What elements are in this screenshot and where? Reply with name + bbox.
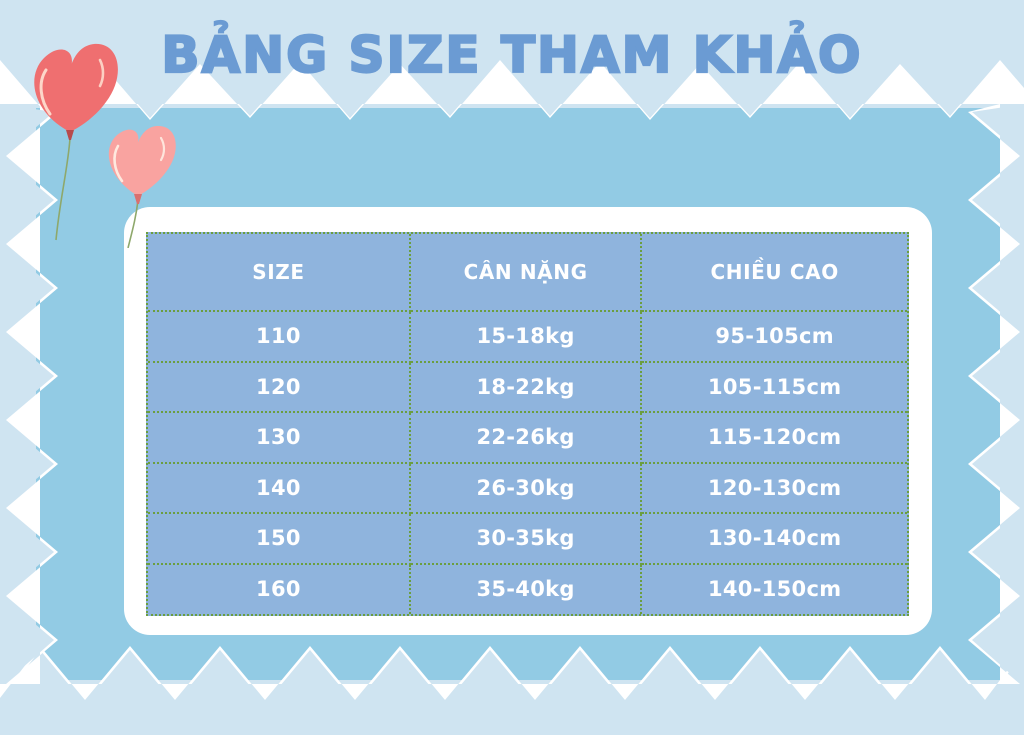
cell-height: 130-140cm — [641, 513, 907, 564]
size-table-container: SIZE CÂN NẶNG CHIỀU CAO 110 15-18kg 95-1… — [146, 232, 909, 616]
cell-size: 150 — [148, 513, 410, 564]
table-row: 140 26-30kg 120-130cm — [148, 463, 907, 514]
table-row: 110 15-18kg 95-105cm — [148, 311, 907, 362]
column-header-size: SIZE — [148, 234, 410, 311]
cell-weight: 15-18kg — [410, 311, 641, 362]
table-row: 150 30-35kg 130-140cm — [148, 513, 907, 564]
cell-weight: 22-26kg — [410, 412, 641, 463]
cell-size: 130 — [148, 412, 410, 463]
size-table: SIZE CÂN NẶNG CHIỀU CAO 110 15-18kg 95-1… — [148, 234, 907, 614]
table-row: 160 35-40kg 140-150cm — [148, 564, 907, 615]
cell-size: 160 — [148, 564, 410, 615]
cell-weight: 26-30kg — [410, 463, 641, 514]
page-title: BẢNG SIZE THAM KHẢO — [0, 26, 1024, 84]
cell-size: 120 — [148, 362, 410, 413]
column-header-weight: CÂN NẶNG — [410, 234, 641, 311]
cell-height: 105-115cm — [641, 362, 907, 413]
cell-size: 140 — [148, 463, 410, 514]
column-header-height: CHIỀU CAO — [641, 234, 907, 311]
cell-weight: 30-35kg — [410, 513, 641, 564]
table-header-row: SIZE CÂN NẶNG CHIỀU CAO — [148, 234, 907, 311]
cell-size: 110 — [148, 311, 410, 362]
cell-weight: 18-22kg — [410, 362, 641, 413]
table-row: 120 18-22kg 105-115cm — [148, 362, 907, 413]
table-row: 130 22-26kg 115-120cm — [148, 412, 907, 463]
cell-height: 120-130cm — [641, 463, 907, 514]
cell-weight: 35-40kg — [410, 564, 641, 615]
size-chart-poster: BẢNG SIZE THAM KHẢO — [0, 0, 1024, 735]
cell-height: 95-105cm — [641, 311, 907, 362]
cell-height: 140-150cm — [641, 564, 907, 615]
cell-height: 115-120cm — [641, 412, 907, 463]
